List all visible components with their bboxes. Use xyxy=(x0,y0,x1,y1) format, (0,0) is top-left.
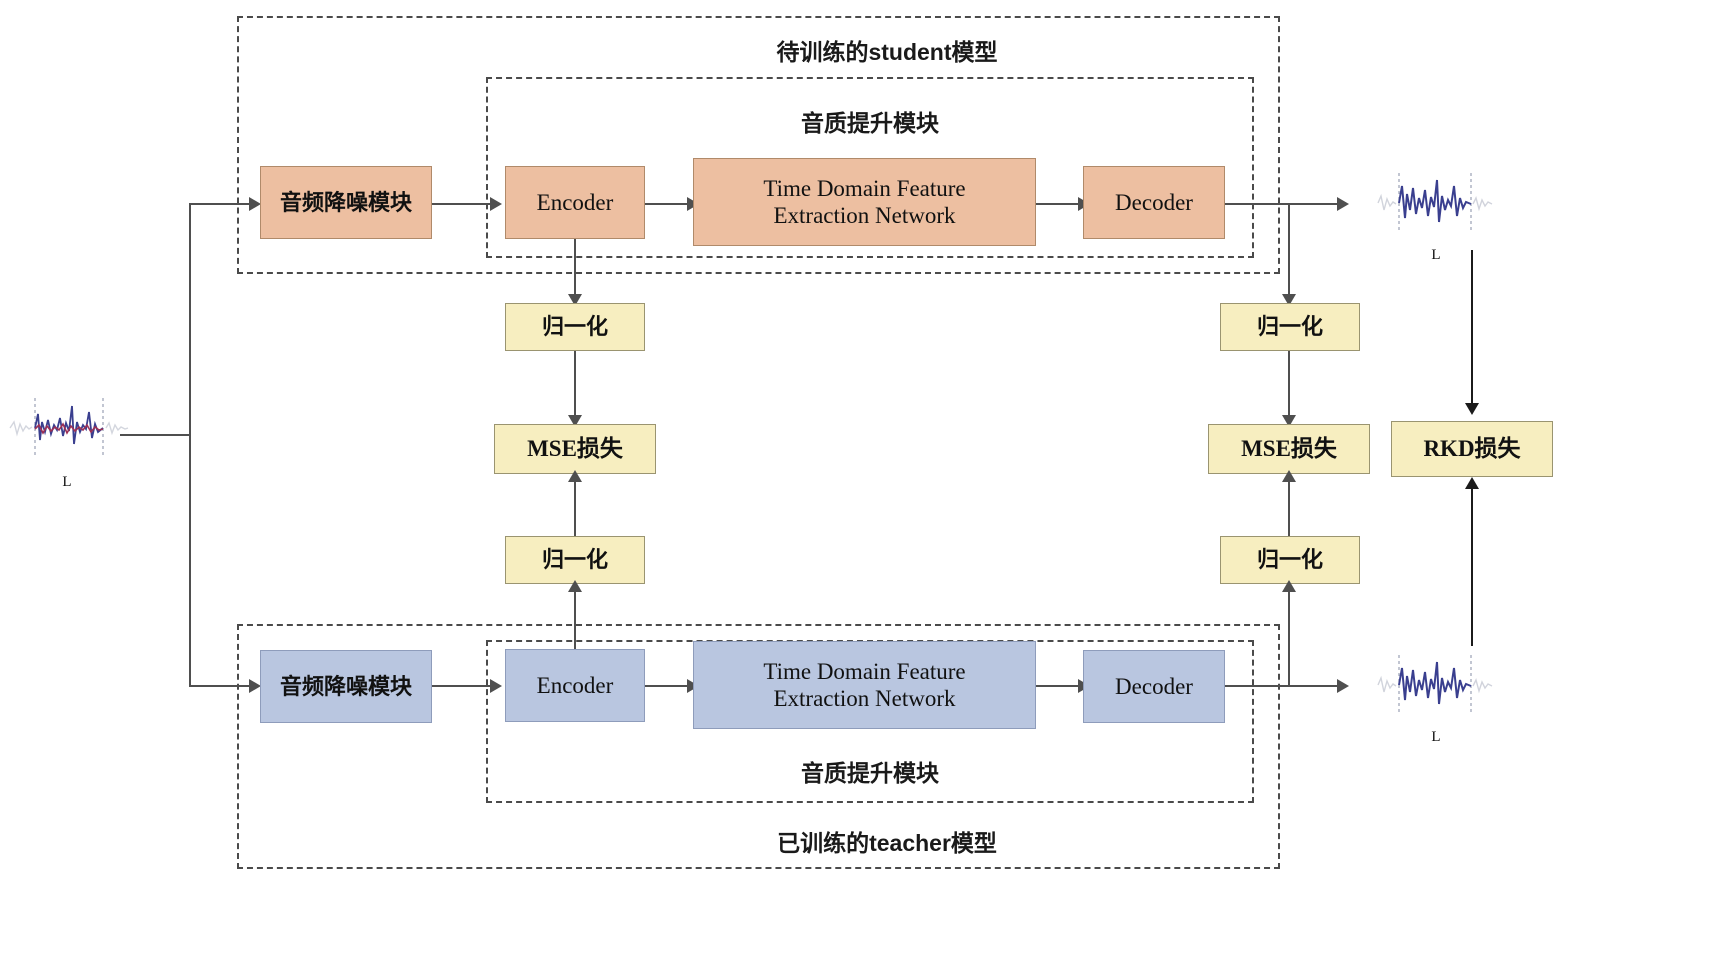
student-encoder[interactable]: Encoder xyxy=(505,166,645,239)
student-output-line xyxy=(1225,203,1342,205)
right-norm-bottom-to-mse-line xyxy=(1288,474,1290,536)
rkd-from-teacher-output-line xyxy=(1471,481,1473,646)
right-normalization-top[interactable]: 归一化 xyxy=(1220,303,1360,351)
teacher-featurenet-to-decoder-line xyxy=(1036,685,1080,687)
teacher-denoise-to-encoder-arrow xyxy=(490,679,502,693)
student-denoise-to-encoder-arrow xyxy=(490,197,502,211)
teacher-output-tap-arrow xyxy=(1282,580,1296,592)
teacher-denoise-module[interactable]: 音频降噪模块 xyxy=(260,650,432,723)
teacher-encoder-to-featurenet-line xyxy=(645,685,689,687)
teacher-output-waveform xyxy=(1376,650,1494,720)
right-norm-bottom-to-mse-arrow xyxy=(1282,470,1296,482)
student-quality-module-title: 音质提升模块 xyxy=(540,104,1200,138)
mid-norm-bottom-to-mse-arrow xyxy=(568,470,582,482)
mid-norm-bottom-to-mse-line xyxy=(574,474,576,536)
student-feature-extraction-network[interactable]: Time Domain Feature Extraction Network xyxy=(693,158,1036,246)
student-input-line xyxy=(189,203,251,205)
student-output-length-label: L xyxy=(1400,247,1472,264)
teacher-denoise-to-encoder-line xyxy=(432,685,492,687)
student-encoder-tap-line xyxy=(574,239,576,299)
teacher-quality-module-title: 音质提升模块 xyxy=(540,754,1200,788)
teacher-input-line xyxy=(189,685,251,687)
teacher-encoder[interactable]: Encoder xyxy=(505,649,645,722)
student-output-tap-line xyxy=(1288,203,1290,299)
rkd-from-teacher-output-arrow xyxy=(1465,477,1479,489)
teacher-output-length-label: L xyxy=(1400,729,1472,746)
teacher-decoder[interactable]: Decoder xyxy=(1083,650,1225,723)
input-waveform-length-label: L xyxy=(32,474,102,491)
input-stub-horizontal xyxy=(120,434,191,436)
mid-normalization-bottom[interactable]: 归一化 xyxy=(505,536,645,584)
diagram-canvas: 待训练的student模型 音质提升模块 音质提升模块 已训练的teacher模… xyxy=(0,0,1730,976)
input-waveform xyxy=(8,392,130,464)
rkd-from-student-output-arrow xyxy=(1465,403,1479,415)
teacher-encoder-tap-arrow xyxy=(568,580,582,592)
right-norm-top-to-mse-line xyxy=(1288,351,1290,420)
mid-norm-top-to-mse-line xyxy=(574,351,576,420)
teacher-model-title: 已训练的teacher模型 xyxy=(537,824,1237,858)
right-mse-loss[interactable]: MSE损失 xyxy=(1208,424,1370,474)
student-denoise-module[interactable]: 音频降噪模块 xyxy=(260,166,432,239)
student-encoder-to-featurenet-line xyxy=(645,203,689,205)
teacher-feature-extraction-network[interactable]: Time Domain Feature Extraction Network xyxy=(693,641,1036,729)
mid-normalization-top[interactable]: 归一化 xyxy=(505,303,645,351)
student-output-waveform xyxy=(1376,168,1494,238)
mid-mse-loss[interactable]: MSE损失 xyxy=(494,424,656,474)
rkd-loss[interactable]: RKD损失 xyxy=(1391,421,1553,477)
student-decoder[interactable]: Decoder xyxy=(1083,166,1225,239)
teacher-encoder-tap-line xyxy=(574,584,576,649)
teacher-output-tap-line xyxy=(1288,584,1290,685)
student-model-title: 待训练的student模型 xyxy=(537,33,1237,67)
teacher-output-arrow xyxy=(1337,679,1349,693)
student-featurenet-to-decoder-line xyxy=(1036,203,1080,205)
input-split-vertical xyxy=(189,203,191,686)
student-denoise-to-encoder-line xyxy=(432,203,492,205)
student-output-arrow xyxy=(1337,197,1349,211)
rkd-from-student-output-line xyxy=(1471,250,1473,408)
teacher-output-line xyxy=(1225,685,1342,687)
right-normalization-bottom[interactable]: 归一化 xyxy=(1220,536,1360,584)
